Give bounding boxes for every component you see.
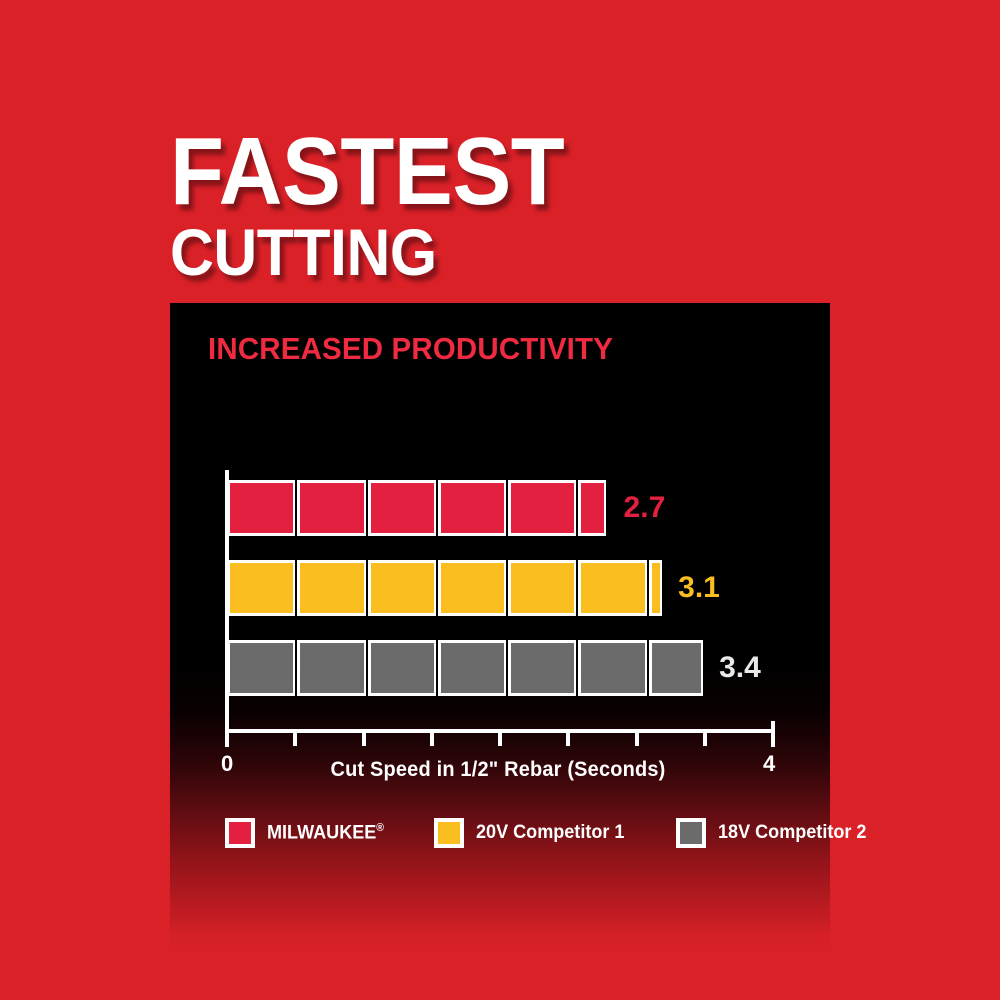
bar-value-label: 3.4 — [719, 651, 761, 685]
x-axis-tick — [498, 733, 502, 746]
legend-label: MILWAUKEE® — [267, 822, 384, 844]
bar-row: 2.7 — [227, 480, 596, 536]
bar-segment — [297, 640, 365, 696]
legend-item: 20V Competitor 1 — [434, 818, 632, 848]
x-axis-tick — [362, 733, 366, 746]
headline-line-1: FASTEST — [170, 128, 814, 216]
bar-value-label: 2.7 — [624, 491, 666, 525]
bar-segment — [297, 480, 365, 536]
legend-swatch — [434, 818, 464, 848]
infographic-canvas: FASTEST CUTTING INCREASED PRODUCTIVITY 2… — [0, 0, 1000, 1000]
x-axis-tick — [293, 733, 297, 746]
bar-segment — [227, 560, 295, 616]
bar-segment — [438, 480, 506, 536]
legend-item: MILWAUKEE® — [225, 818, 390, 848]
legend-item: 18V Competitor 2 — [676, 818, 874, 848]
x-axis-tick — [635, 733, 639, 746]
bar-row: 3.4 — [227, 640, 691, 696]
bar-segment — [227, 480, 295, 536]
chart-title: INCREASED PRODUCTIVITY — [208, 331, 613, 367]
bar — [227, 640, 703, 696]
x-axis-tick — [703, 733, 707, 746]
x-axis-tick — [225, 721, 229, 747]
x-axis-title: Cut Speed in 1/2" Rebar (Seconds) — [239, 758, 758, 782]
bar — [227, 560, 662, 616]
bar-row: 3.1 — [227, 560, 650, 616]
bar-segment — [508, 560, 576, 616]
chart-legend: MILWAUKEE®20V Competitor 118V Competitor… — [225, 818, 795, 848]
x-axis-end-label: 4 — [763, 751, 775, 777]
bar-segment — [649, 640, 704, 696]
bar-segment — [227, 640, 295, 696]
bar-segment — [368, 480, 436, 536]
bar-segment — [508, 640, 576, 696]
bar-segment — [578, 640, 646, 696]
bar-segment — [649, 560, 663, 616]
bar-value-label: 3.1 — [678, 571, 720, 605]
headline-line-2: CUTTING — [170, 222, 814, 283]
bar-segment — [297, 560, 365, 616]
bar-segment — [578, 560, 646, 616]
x-axis-tick — [771, 721, 775, 747]
x-axis-start-label: 0 — [221, 751, 233, 777]
x-axis-tick — [566, 733, 570, 746]
chart-panel: INCREASED PRODUCTIVITY 2.73.13.4 0 4 Cut… — [170, 303, 830, 960]
bar-segment — [438, 560, 506, 616]
legend-swatch — [676, 818, 706, 848]
legend-label: 18V Competitor 2 — [718, 822, 866, 844]
legend-swatch — [225, 818, 255, 848]
bar-segment — [438, 640, 506, 696]
bar-segment — [578, 480, 605, 536]
bar-segment — [368, 640, 436, 696]
plot-area: 2.73.13.4 0 4 Cut Speed in 1/2" Rebar (S… — [225, 470, 830, 735]
legend-label: 20V Competitor 1 — [476, 822, 624, 844]
bar-segment — [368, 560, 436, 616]
bar-segment — [508, 480, 576, 536]
headline: FASTEST CUTTING — [170, 128, 870, 283]
x-axis-tick — [430, 733, 434, 746]
bar — [227, 480, 606, 536]
